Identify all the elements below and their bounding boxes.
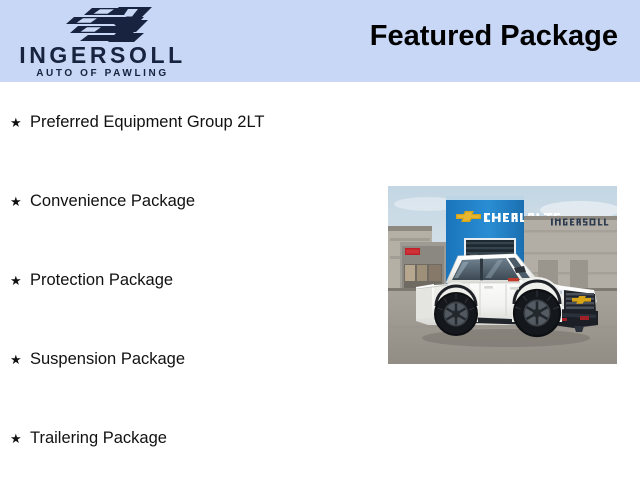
list-item: ★ Preferred Equipment Group 2LT (10, 114, 264, 131)
star-bullet-icon: ★ (10, 116, 30, 129)
list-item-label: Trailering Package (30, 430, 167, 447)
list-item: ★ Trailering Package (10, 430, 167, 447)
star-bullet-icon: ★ (10, 195, 30, 208)
list-item: ★ Suspension Package (10, 351, 185, 368)
brand-subtitle: AUTO OF PAWLING (0, 69, 205, 79)
star-bullet-icon: ★ (10, 274, 30, 287)
star-bullet-icon: ★ (10, 432, 30, 445)
brand-logo: INGERSOLL AUTO OF PAWLING (0, 4, 210, 82)
list-item: ★ Convenience Package (10, 193, 195, 210)
page-header: INGERSOLL AUTO OF PAWLING Featured Packa… (0, 0, 640, 82)
list-item-label: Convenience Package (30, 193, 195, 210)
ingersoll-wing-mark-icon (44, 6, 174, 42)
page-title: Featured Package (370, 20, 618, 53)
list-item-label: Suspension Package (30, 351, 185, 368)
star-bullet-icon: ★ (10, 353, 30, 366)
list-item: ★ Protection Package (10, 272, 173, 289)
vehicle-photo (388, 186, 617, 364)
list-item-label: Protection Package (30, 272, 173, 289)
list-item-label: Preferred Equipment Group 2LT (30, 114, 264, 131)
brand-name: INGERSOLL (0, 44, 205, 67)
